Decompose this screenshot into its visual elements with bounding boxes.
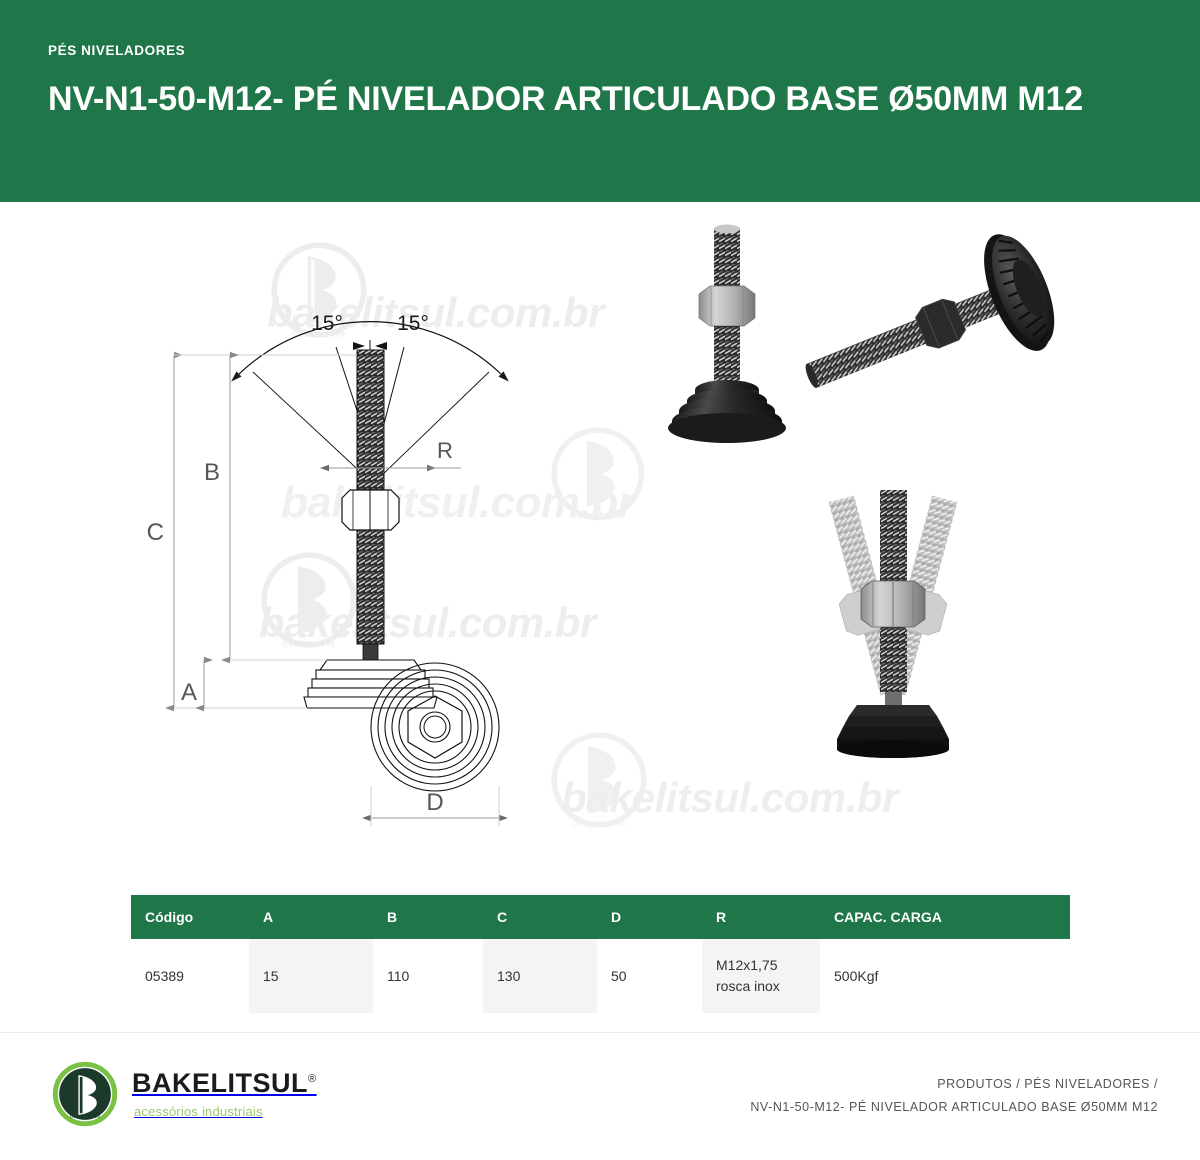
cell-c: 130 <box>483 939 597 1013</box>
watermark-text: bakelitsul.com.br <box>561 774 901 821</box>
brand-name-text: BAKELITSUL <box>132 1068 308 1098</box>
table-head: Código A B C D R CAPAC. CARGA <box>131 895 1070 939</box>
dim-label-r: R <box>437 438 453 463</box>
col-header-d: D <box>597 895 702 939</box>
watermark-group: DESDE 1999 bakelitsul.com.br DESDE 1999 … <box>259 245 901 828</box>
col-header-codigo: Código <box>131 895 249 939</box>
page-title: NV-N1-50-M12- PÉ NIVELADOR ARTICULADO BA… <box>48 80 1140 119</box>
col-header-capac-carga: CAPAC. CARGA <box>820 895 1070 939</box>
dim-label-b: B <box>204 459 220 486</box>
page-footer: DESDE 1999 BAKELITSUL® acessórios indust… <box>0 1033 1200 1160</box>
col-header-a: A <box>249 895 373 939</box>
specification-table-wrapper: Código A B C D R CAPAC. CARGA 05389 15 1… <box>131 895 1070 1013</box>
render-upright <box>668 225 786 444</box>
watermark-text: bakelitsul.com.br <box>281 478 638 527</box>
breadcrumb-line-2[interactable]: NV-N1-50-M12- PÉ NIVELADOR ARTICULADO BA… <box>750 1096 1158 1119</box>
table-header-row: Código A B C D R CAPAC. CARGA <box>131 895 1070 939</box>
col-header-c: C <box>483 895 597 939</box>
dim-label-a: A <box>181 679 197 706</box>
angle-label-right: 15° <box>397 312 429 335</box>
brand-text-block: BAKELITSUL® acessórios industriais <box>132 1070 317 1118</box>
base-render <box>668 380 786 443</box>
breadcrumb-line-1[interactable]: PRODUTOS / PÉS NIVELADORES / <box>750 1073 1158 1096</box>
watermark-text: bakelitsul.com.br <box>259 599 599 646</box>
table-row: 05389 15 110 130 50 M12x1,75 rosca inox … <box>131 939 1070 1013</box>
angle-label-left: 15° <box>311 312 343 335</box>
cell-r: M12x1,75 rosca inox <box>702 939 820 1013</box>
specification-table: Código A B C D R CAPAC. CARGA 05389 15 1… <box>131 895 1070 1013</box>
cell-b: 110 <box>373 939 483 1013</box>
base-section <box>304 660 437 708</box>
product-page: PÉS NIVELADORES NV-N1-50-M12- PÉ NIVELAD… <box>0 0 1200 1160</box>
bakelitsul-logo-icon: DESDE 1999 <box>52 1061 118 1127</box>
render-tilted <box>785 224 1069 435</box>
render-articulation <box>829 490 958 758</box>
dim-label-c: C <box>147 519 164 546</box>
category-eyebrow: PÉS NIVELADORES <box>48 44 1140 58</box>
cell-d: 50 <box>597 939 702 1013</box>
technical-drawing-svg: DESDE 1999 bakelitsul.com.br DESDE 1999 … <box>131 222 1070 872</box>
dim-label-d: D <box>426 789 443 816</box>
cell-a: 15 <box>249 939 373 1013</box>
base-render-articulation <box>837 705 949 758</box>
table-body: 05389 15 110 130 50 M12x1,75 rosca inox … <box>131 939 1070 1013</box>
svg-text:DESDE 1999: DESDE 1999 <box>70 1114 101 1119</box>
registered-mark: ® <box>308 1073 317 1085</box>
page-header: PÉS NIVELADORES NV-N1-50-M12- PÉ NIVELAD… <box>0 0 1200 202</box>
brand-name: BAKELITSUL® <box>132 1070 317 1097</box>
cell-capac-carga: 500Kgf <box>820 939 1070 1013</box>
content-area: DESDE 1999 bakelitsul.com.br DESDE 1999 … <box>0 202 1200 1032</box>
brand-tagline: acessórios industriais <box>134 1105 317 1118</box>
hex-nut-section <box>342 490 399 530</box>
brand-logo-link[interactable]: DESDE 1999 BAKELITSUL® acessórios indust… <box>52 1061 317 1127</box>
col-header-b: B <box>373 895 483 939</box>
product-figure: DESDE 1999 bakelitsul.com.br DESDE 1999 … <box>131 222 1070 872</box>
col-header-r: R <box>702 895 820 939</box>
breadcrumb: PRODUTOS / PÉS NIVELADORES / NV-N1-50-M1… <box>750 1073 1158 1119</box>
cell-codigo: 05389 <box>131 939 249 1013</box>
